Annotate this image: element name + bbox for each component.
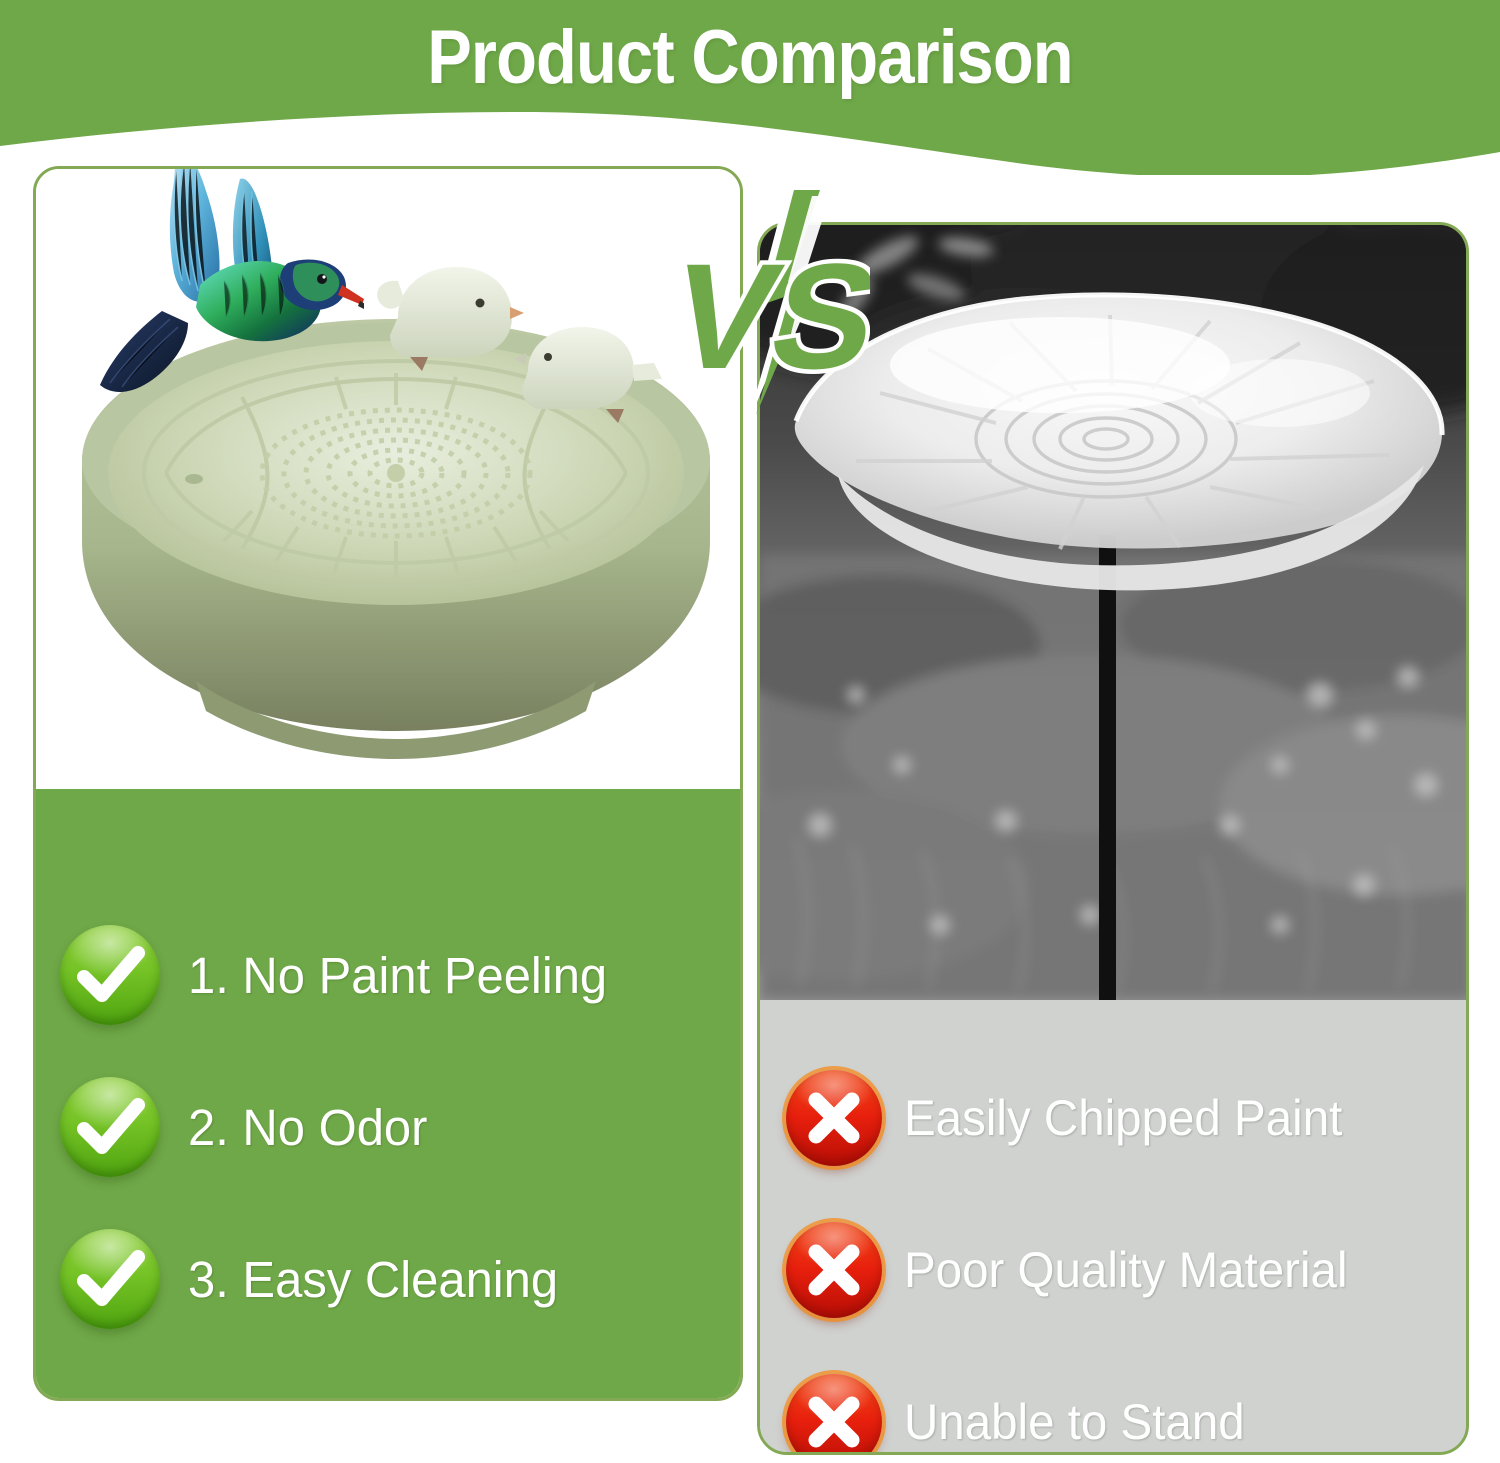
check-icon (60, 925, 160, 1025)
pro-label: 1. No Paint Peeling (188, 946, 607, 1005)
pro-label: 3. Easy Cleaning (188, 1250, 558, 1309)
cross-icon (786, 1374, 882, 1455)
list-item: 2. No Odor (60, 1051, 740, 1203)
check-icon (60, 1077, 160, 1177)
cons-list: Easily Chipped Paint Poor Quality Materi… (760, 1000, 1466, 1452)
check-icon (60, 1229, 160, 1329)
cross-icon (786, 1070, 882, 1166)
list-item: Unable to Stand (786, 1346, 1466, 1455)
pros-list: 1. No Paint Peeling 2. No Odor 3. Easy C… (36, 789, 740, 1398)
left-product-photo (36, 169, 740, 789)
glass-birdbath-garden-photo (760, 225, 1466, 1000)
list-item: Easily Chipped Paint (786, 1042, 1466, 1194)
right-product-photo (760, 225, 1466, 1000)
con-label: Easily Chipped Paint (904, 1089, 1342, 1147)
con-label: Unable to Stand (904, 1393, 1245, 1451)
right-product-panel: Easily Chipped Paint Poor Quality Materi… (757, 222, 1469, 1455)
list-item: Poor Quality Material (786, 1194, 1466, 1346)
pro-label: 2. No Odor (188, 1098, 427, 1157)
cross-icon (786, 1222, 882, 1318)
left-product-panel: 1. No Paint Peeling 2. No Odor 3. Easy C… (33, 166, 743, 1401)
page-title: Product Comparison (90, 14, 1410, 101)
list-item: 1. No Paint Peeling (60, 899, 740, 1051)
con-label: Poor Quality Material (904, 1241, 1348, 1299)
hummingbird-illustration (74, 169, 364, 435)
list-item: 3. Easy Cleaning (60, 1203, 740, 1355)
